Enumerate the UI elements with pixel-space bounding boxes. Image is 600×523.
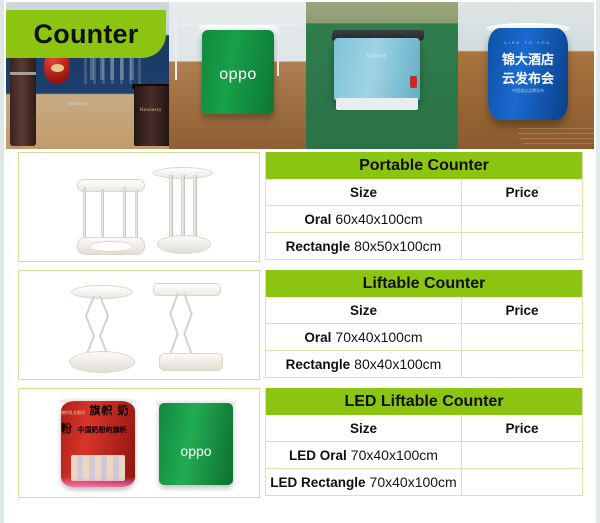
bottle-label <box>51 64 64 72</box>
cell-size: Oral60x40x100cm <box>266 206 462 232</box>
column-header-size: Size <box>266 415 462 441</box>
page-title: Counter <box>34 19 139 50</box>
section-led-liftable-counter: 旗帜乳业股份 旗帜 奶粉 中国奶粉的旗帜 oppo LED Liftable C… <box>0 388 600 500</box>
cell-size: Rectangle80x40x100cm <box>266 351 462 377</box>
liftable-counter-table: Liftable Counter Size Price Oral70x40x10… <box>265 270 583 378</box>
portable-column-headers: Size Price <box>266 179 582 206</box>
oppo-brand-label: oppo <box>159 443 233 459</box>
cell-price <box>462 442 582 468</box>
liftable-counter-image-cell <box>18 270 260 380</box>
counter-ribs <box>518 128 594 146</box>
led-column-headers: Size Price <box>266 415 582 442</box>
row-type: Rectangle <box>286 239 351 254</box>
round-table-base <box>157 235 211 254</box>
rect-scissor-mechanism <box>171 293 199 355</box>
portable-counter-image-cell <box>18 152 260 262</box>
chinese-counter-line-small: LIKE TO YOU <box>488 40 568 45</box>
red-led-counter-body: 旗帜乳业股份 旗帜 奶粉 中国奶粉的旗帜 <box>61 401 135 487</box>
rect-base-hole <box>89 241 133 252</box>
green-led-counter-body: oppo <box>159 403 233 485</box>
liftable-counter-table-header: Liftable Counter <box>266 270 582 297</box>
cell-price <box>462 469 582 495</box>
row-size: 60x40x100cm <box>335 211 422 227</box>
cell-size: LED Rectangle70x40x100cm <box>266 469 462 495</box>
chinese-counter-line-bottom: 中国酒店品牌发布 <box>488 88 568 94</box>
column-header-price: Price <box>462 415 582 441</box>
banner-panel-chinese-counter: LIKE TO YOU 锦大酒店 云发布会 中国酒店品牌发布 <box>458 2 594 149</box>
column-header-size: Size <box>266 179 462 205</box>
column-header-price: Price <box>462 297 582 323</box>
table-row: Oral60x40x100cm <box>266 206 582 233</box>
round-table-leg-2 <box>181 175 185 241</box>
cell-price <box>462 351 582 377</box>
row-size: 80x40x100cm <box>354 356 441 372</box>
counter-brand-text: Hennessy <box>140 108 162 113</box>
cell-price <box>462 324 582 350</box>
liftable-column-headers: Size Price <box>266 297 582 324</box>
table-row: Oral70x40x100cm <box>266 324 582 351</box>
page-title-badge: Counter <box>6 10 166 58</box>
backdrop-pattern-2 <box>90 56 136 80</box>
row-size: 70x40x100cm <box>335 329 422 345</box>
row-size: 80x50x100cm <box>354 238 441 254</box>
product-spec-sheet: Hennessy Hennessy oppo Summit LIKE TO YO… <box>0 0 600 523</box>
red-accent <box>410 76 417 88</box>
rect-lift-base <box>159 353 223 371</box>
table-row: LED Oral70x40x100cm <box>266 442 582 469</box>
product-sections: Portable Counter Size Price Oral60x40x10… <box>0 152 600 500</box>
cell-size: Oral70x40x100cm <box>266 324 462 350</box>
chinese-counter-line1: 锦大酒店 <box>488 49 568 68</box>
table-row: LED Rectangle70x40x100cm <box>266 469 582 495</box>
row-type: Rectangle <box>286 357 351 372</box>
backdrop-brand-text: Hennessy <box>68 102 87 107</box>
blue-counter-base <box>336 98 418 110</box>
cell-size: Rectangle80x50x100cm <box>266 233 462 259</box>
section-title: Portable Counter <box>359 157 489 175</box>
oval-lift-base <box>69 351 135 373</box>
section-portable-counter: Portable Counter Size Price Oral60x40x10… <box>0 152 600 264</box>
chinese-counter-line2: 云发布会 <box>488 68 568 87</box>
rect-table-leg-4 <box>135 189 138 241</box>
led-liftable-counter-table: LED Liftable Counter Size Price LED Oral… <box>265 388 583 496</box>
row-type: LED Oral <box>289 448 347 463</box>
red-counter-line2: 中国奶粉的旗帜 <box>77 427 126 434</box>
section-liftable-counter: Liftable Counter Size Price Oral70x40x10… <box>0 270 600 382</box>
row-size: 70x40x100cm <box>351 447 438 463</box>
hennessy-counter <box>134 86 169 146</box>
round-table-leg-3 <box>193 175 197 239</box>
row-type: Oral <box>304 212 331 227</box>
dark-column <box>10 54 36 146</box>
portable-counter-table: Portable Counter Size Price Oral60x40x10… <box>265 152 583 260</box>
section-title: Liftable Counter <box>363 275 486 293</box>
led-liftable-counter-table-header: LED Liftable Counter <box>266 388 582 415</box>
blue-counter-body <box>334 38 420 100</box>
column-header-price: Price <box>462 179 582 205</box>
blue-counter-brand: Summit <box>366 54 386 60</box>
banner-panel-blue-counter: Summit <box>306 2 458 149</box>
oppo-brand-label: oppo <box>202 66 274 84</box>
rect-table-leg-2 <box>101 189 104 243</box>
row-type: Oral <box>304 330 331 345</box>
row-type: LED Rectangle <box>270 475 365 490</box>
column-header-size: Size <box>266 297 462 323</box>
round-table-leg-1 <box>169 175 173 239</box>
led-glow <box>61 477 135 487</box>
cell-size: LED Oral70x40x100cm <box>266 442 462 468</box>
cell-price <box>462 233 582 259</box>
cell-price <box>462 206 582 232</box>
red-counter-top-small: 旗帜乳业股份 <box>61 410 85 415</box>
led-liftable-counter-image-cell: 旗帜乳业股份 旗帜 奶粉 中国奶粉的旗帜 oppo <box>18 388 260 498</box>
table-row: Rectangle80x40x100cm <box>266 351 582 377</box>
section-title: LED Liftable Counter <box>344 393 503 411</box>
oval-scissor-mechanism <box>87 295 115 357</box>
banner-panel-oppo: oppo <box>169 2 306 149</box>
row-size: 70x40x100cm <box>370 474 457 490</box>
table-row: Rectangle80x50x100cm <box>266 233 582 259</box>
portable-counter-table-header: Portable Counter <box>266 152 582 179</box>
